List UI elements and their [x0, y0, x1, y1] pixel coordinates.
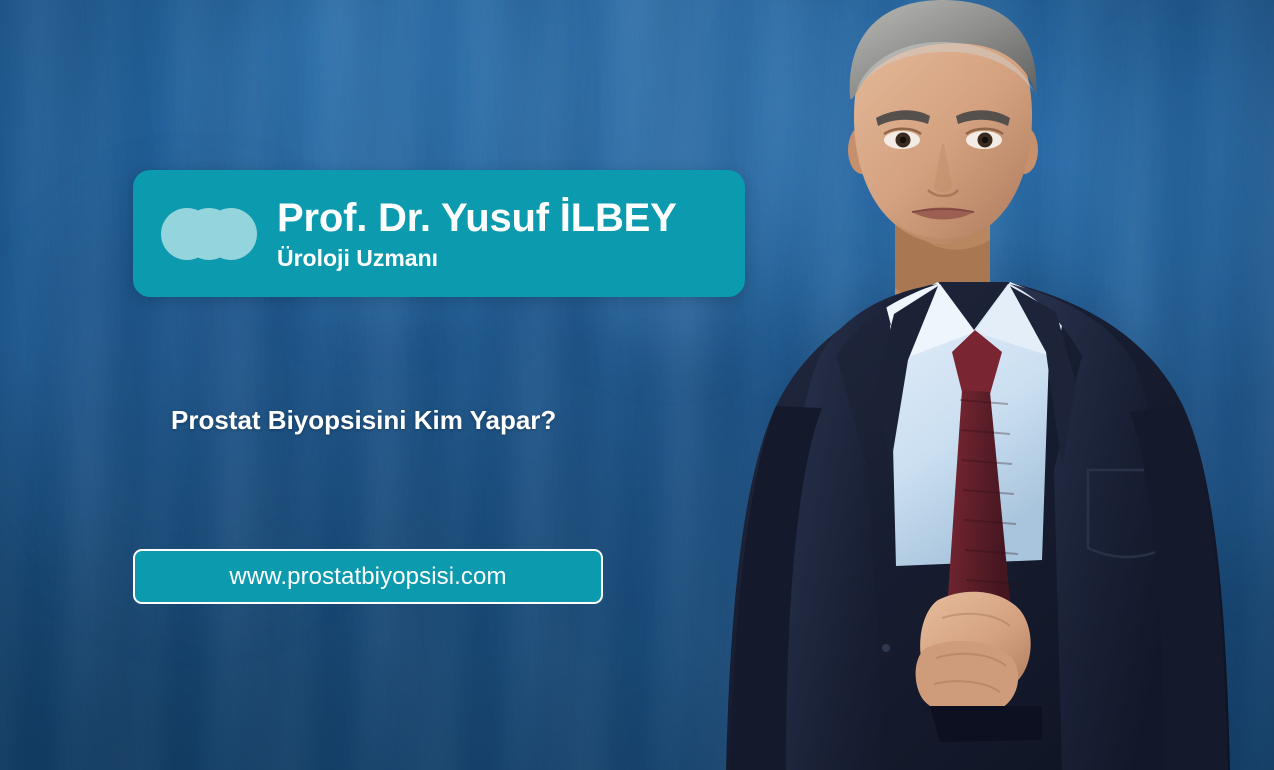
website-url-button[interactable]: www.prostatbiyopsisi.com [133, 549, 603, 604]
promo-banner-canvas: Prof. Dr. Yusuf İLBEY Üroloji Uzmanı Pro… [0, 0, 1274, 770]
name-text-group: Prof. Dr. Yusuf İLBEY Üroloji Uzmanı [277, 198, 677, 270]
headline-text: Prostat Biyopsisini Kim Yapar? [171, 405, 556, 436]
doctor-specialty: Üroloji Uzmanı [277, 247, 677, 270]
website-url-label: www.prostatbiyopsisi.com [229, 563, 506, 591]
doctor-name-banner: Prof. Dr. Yusuf İLBEY Üroloji Uzmanı [133, 170, 745, 297]
doctor-name: Prof. Dr. Yusuf İLBEY [277, 198, 677, 238]
three-overlapping-circles-logo-icon [161, 208, 257, 260]
doctor-portrait-photo [690, 0, 1274, 770]
